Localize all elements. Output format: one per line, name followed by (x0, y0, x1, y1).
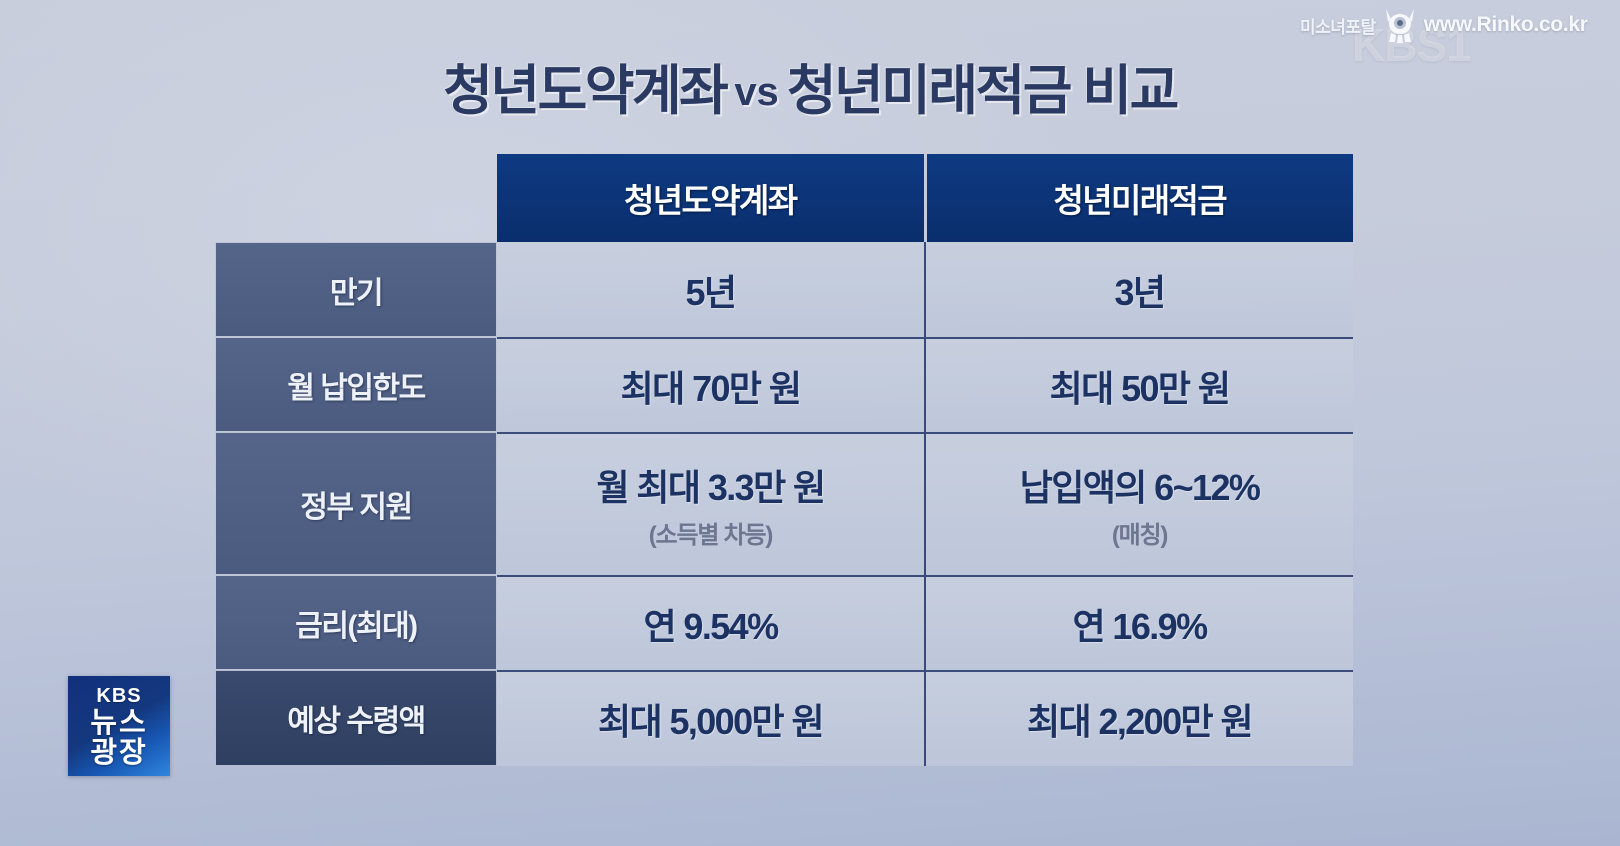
broadcast-graphic-screen: KBS1 미소녀포탈 www.Rinko.co.kr 청년도약계좌vs청년미래적… (0, 0, 1620, 846)
row-label-1: 월 납입한도 (215, 337, 497, 432)
row-label-2: 정부 지원 (215, 432, 497, 575)
cell-main-text: 연 16.9% (1073, 598, 1207, 650)
title-right-term: 청년미래적금 비교 (787, 61, 1177, 121)
row-cells-0: 5년 3년 (497, 242, 1353, 337)
row-label-4: 예상 수령액 (215, 670, 497, 766)
row-cells-1: 최대 70만 원 최대 50만 원 (497, 337, 1353, 432)
watermark-left-text: 미소녀포탈 (1300, 13, 1376, 38)
header-cells: 청년도약계좌 청년미래적금 (497, 154, 1353, 242)
cell-main-text: 최대 2,200만 원 (1027, 693, 1252, 745)
table-cell: 최대 70만 원 (497, 337, 924, 432)
table-cell: 3년 (924, 242, 1353, 337)
logo-brand-text: KBS (96, 686, 141, 706)
row-cells-4: 최대 5,000만 원 최대 2,200만 원 (497, 670, 1353, 766)
table-header-row: 청년도약계좌 청년미래적금 (215, 154, 1353, 242)
table-cell: 5년 (497, 242, 924, 337)
cell-main-text: 5년 (686, 264, 736, 316)
cell-main-text: 납입액의 6~12% (1020, 459, 1260, 511)
alien-mascot-icon (1380, 5, 1420, 45)
site-watermark: 미소녀포탈 www.Rinko.co.kr (1300, 5, 1588, 45)
logo-line2-text: 광장 (90, 739, 147, 769)
watermark-url-text: www.Rinko.co.kr (1424, 13, 1588, 37)
cell-main-text: 월 최대 3.3만 원 (596, 459, 824, 511)
table-row: 월 납입한도 최대 70만 원 최대 50만 원 (215, 337, 1353, 432)
program-logo: KBS 뉴스 광장 (68, 676, 170, 776)
cell-main-text: 3년 (1115, 264, 1165, 316)
table-cell: 납입액의 6~12% (매칭) (924, 432, 1353, 575)
table-corner-cell (215, 154, 497, 242)
row-cells-3: 연 9.54% 연 16.9% (497, 575, 1353, 670)
cell-main-text: 최대 70만 원 (621, 360, 801, 412)
title-vs-separator: vs (726, 70, 787, 114)
table-cell: 연 9.54% (497, 575, 924, 670)
table-cell: 최대 5,000만 원 (497, 670, 924, 766)
cell-main-text: 최대 50만 원 (1050, 360, 1230, 412)
cell-sub-text: (소득별 차등) (649, 515, 772, 550)
page-title: 청년도약계좌vs청년미래적금 비교 (0, 46, 1620, 125)
table-cell: 연 16.9% (924, 575, 1353, 670)
row-label-0: 만기 (215, 242, 497, 337)
table-cell: 최대 2,200만 원 (924, 670, 1353, 766)
column-header-1: 청년도약계좌 (497, 154, 924, 242)
table-row: 만기 5년 3년 (215, 242, 1353, 337)
cell-sub-text: (매칭) (1112, 515, 1167, 550)
cell-main-text: 연 9.54% (644, 598, 778, 650)
logo-line1-text: 뉴스 (90, 709, 147, 739)
column-header-2: 청년미래적금 (924, 154, 1354, 242)
cell-main-text: 최대 5,000만 원 (598, 693, 823, 745)
table-row: 예상 수령액 최대 5,000만 원 최대 2,200만 원 (215, 670, 1353, 766)
comparison-table: 청년도약계좌 청년미래적금 만기 5년 3년 월 납입한도 최대 70만 원 (215, 154, 1353, 766)
row-label-3: 금리(최대) (215, 575, 497, 670)
table-cell: 최대 50만 원 (924, 337, 1353, 432)
title-left-term: 청년도약계좌 (443, 61, 726, 121)
table-row: 금리(최대) 연 9.54% 연 16.9% (215, 575, 1353, 670)
table-cell: 월 최대 3.3만 원 (소득별 차등) (497, 432, 924, 575)
row-cells-2: 월 최대 3.3만 원 (소득별 차등) 납입액의 6~12% (매칭) (497, 432, 1353, 575)
table-row: 정부 지원 월 최대 3.3만 원 (소득별 차등) 납입액의 6~12% (매… (215, 432, 1353, 575)
